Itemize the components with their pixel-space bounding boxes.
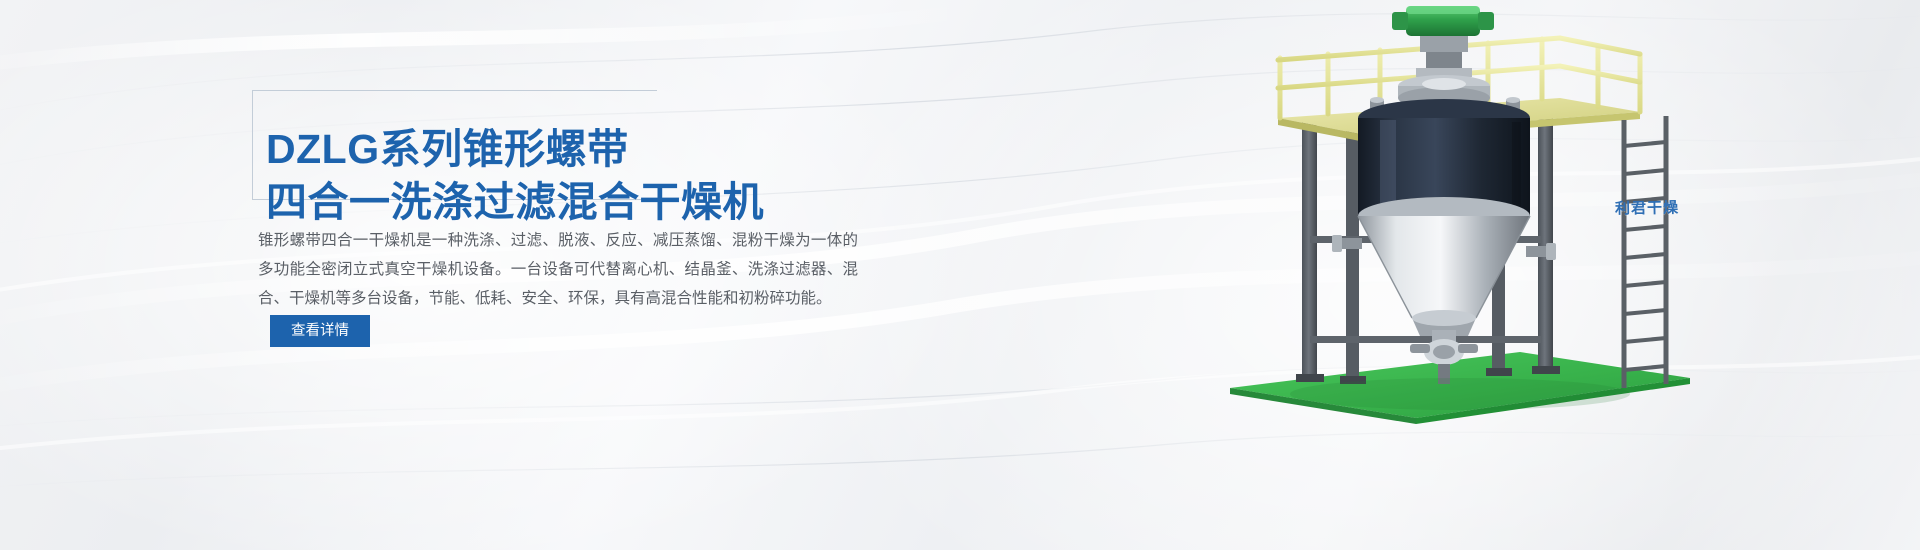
hero-banner: DZLG系列锥形螺带 四合一洗涤过滤混合干燥机 锥形螺带四合一干燥机是一种洗涤、… xyxy=(0,0,1920,550)
hero-text-block: DZLG系列锥形螺带 四合一洗涤过滤混合干燥机 锥形螺带四合一干燥机是一种洗涤、… xyxy=(0,0,960,550)
product-illustration: 利君干燥 xyxy=(1220,0,1920,550)
access-ladder xyxy=(1624,116,1666,388)
view-details-button[interactable]: 查看详情 xyxy=(270,315,370,347)
page-title: DZLG系列锥形螺带 四合一洗涤过滤混合干燥机 xyxy=(266,123,886,229)
vessel-brand-label: 利君干燥 xyxy=(1615,196,1679,218)
headline-line-1: DZLG系列锥形螺带 xyxy=(266,123,886,176)
headline-line-2: 四合一洗涤过滤混合干燥机 xyxy=(266,176,886,229)
drive-motor xyxy=(1392,6,1494,77)
product-description: 锥形螺带四合一干燥机是一种洗涤、过滤、脱液、反应、减压蒸馏、混粉干燥为一体的多功… xyxy=(258,226,858,313)
